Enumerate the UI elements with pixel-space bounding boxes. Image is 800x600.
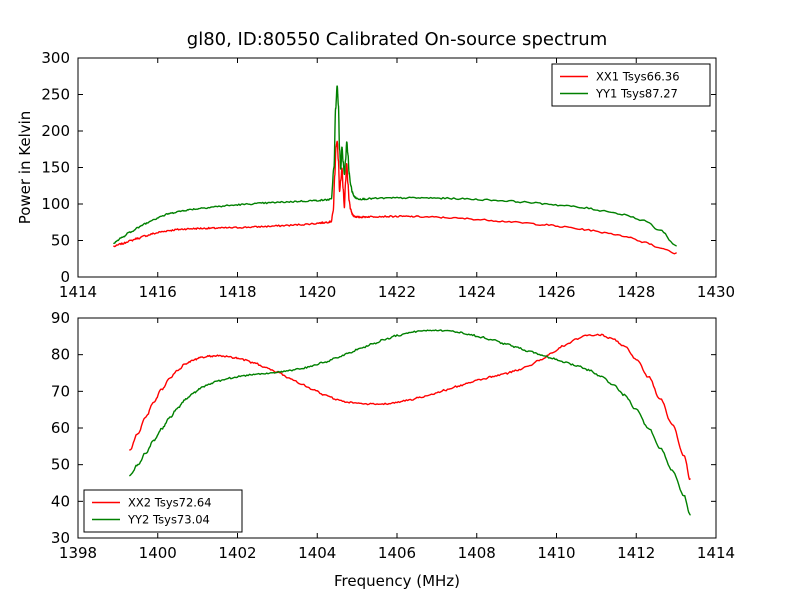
y-tick-label: 50 xyxy=(51,456,70,474)
series-line-yy2 xyxy=(130,330,690,515)
matplotlib-figure: gl80, ID:80550 Calibrated On-source spec… xyxy=(0,0,800,600)
x-tick-label: 1426 xyxy=(537,283,575,301)
x-tick-label: 1414 xyxy=(697,544,735,562)
y-tick-label: 150 xyxy=(41,159,70,177)
x-tick-label: 1404 xyxy=(298,544,336,562)
x-tick-label: 1424 xyxy=(458,283,496,301)
x-tick-label: 1430 xyxy=(697,283,735,301)
y-tick-label: 80 xyxy=(51,346,70,364)
legend-label-yy2: YY2 Tsys73.04 xyxy=(127,513,210,527)
x-tick-label: 1412 xyxy=(617,544,655,562)
x-tick-label: 1408 xyxy=(458,544,496,562)
panel-top-panel: 1414141614181420142214241426142814300501… xyxy=(16,49,735,301)
y-tick-label: 100 xyxy=(41,195,70,213)
figure-canvas: gl80, ID:80550 Calibrated On-source spec… xyxy=(0,0,800,600)
y-tick-label: 40 xyxy=(51,492,70,510)
x-tick-label: 1406 xyxy=(378,544,416,562)
figure-title: gl80, ID:80550 Calibrated On-source spec… xyxy=(187,29,607,50)
x-tick-label: 1422 xyxy=(378,283,416,301)
x-tick-label: 1400 xyxy=(139,544,177,562)
legend-label-xx1: XX1 Tsys66.36 xyxy=(596,70,680,84)
y-tick-label: 70 xyxy=(51,382,70,400)
legend-label-yy1: YY1 Tsys87.27 xyxy=(595,87,678,101)
x-tick-label: 1418 xyxy=(218,283,256,301)
legend-top-panel: XX1 Tsys66.36YY1 Tsys87.27 xyxy=(552,64,710,106)
y-tick-label: 300 xyxy=(41,49,70,67)
y-tick-label: 250 xyxy=(41,86,70,104)
x-tick-label: 1428 xyxy=(617,283,655,301)
series-line-yy1 xyxy=(114,86,676,246)
y-tick-label: 30 xyxy=(51,529,70,547)
panel-bottom-panel: 1398140014021404140614081410141214143040… xyxy=(51,309,735,590)
y-tick-label: 200 xyxy=(41,122,70,140)
x-tick-label: 1402 xyxy=(218,544,256,562)
x-tick-label: 1420 xyxy=(298,283,336,301)
y-tick-label: 60 xyxy=(51,419,70,437)
legend-bottom-panel: XX2 Tsys72.64YY2 Tsys73.04 xyxy=(84,490,242,532)
series-line-xx2 xyxy=(130,334,690,479)
legend-label-xx2: XX2 Tsys72.64 xyxy=(128,496,212,510)
x-tick-label: 1416 xyxy=(139,283,177,301)
y-tick-label: 90 xyxy=(51,309,70,327)
y-tick-label: 0 xyxy=(60,268,70,286)
x-tick-label: 1410 xyxy=(537,544,575,562)
x-axis-label: Frequency (MHz) xyxy=(334,572,460,590)
y-axis-label: Power in Kelvin xyxy=(16,111,34,225)
y-tick-label: 50 xyxy=(51,232,70,250)
